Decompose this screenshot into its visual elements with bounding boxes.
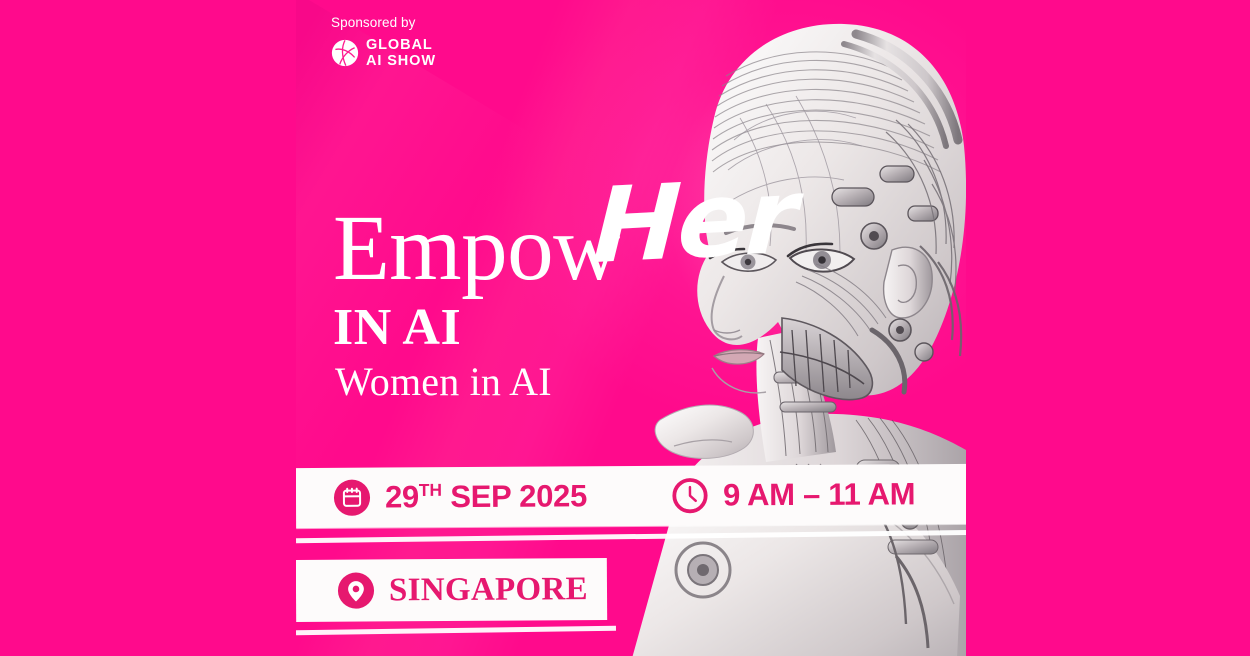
globe-icon bbox=[331, 39, 359, 67]
date-day: 29 bbox=[385, 479, 419, 514]
subtitle: Women in AI bbox=[335, 358, 552, 405]
left-margin bbox=[0, 0, 296, 656]
clock-icon bbox=[671, 477, 709, 515]
headline-word-her: Her bbox=[590, 155, 797, 287]
sponsor-brand-line-1: GLOBAL bbox=[366, 38, 436, 53]
sponsor-logo[interactable]: GLOBAL AI SHOW bbox=[331, 38, 436, 69]
headline-subline: IN AI bbox=[333, 298, 794, 357]
location-bar: SINGAPORE bbox=[296, 558, 607, 622]
calendar-icon bbox=[333, 479, 371, 517]
date-time-bar: 29TH SEP 2025 9 AM – 11 AM bbox=[296, 464, 972, 528]
sponsor-brand: GLOBAL AI SHOW bbox=[366, 38, 436, 69]
location-item: SINGAPORE bbox=[337, 570, 588, 610]
location-text: SINGAPORE bbox=[389, 571, 588, 609]
date-item: 29TH SEP 2025 bbox=[333, 477, 587, 517]
headline-main-line: EmpowHer bbox=[333, 182, 794, 304]
right-margin bbox=[966, 0, 1250, 656]
sponsor-brand-line-2: AI SHOW bbox=[366, 54, 436, 69]
date-month-year: SEP 2025 bbox=[450, 478, 587, 514]
time-item: 9 AM – 11 AM bbox=[671, 475, 915, 514]
headline-word-empow: Empow bbox=[333, 197, 620, 300]
location-pin-icon bbox=[337, 571, 375, 609]
date-ordinal: TH bbox=[419, 480, 442, 500]
event-poster: Sponsored by GLOBAL AI SHOW EmpowHe bbox=[0, 0, 1250, 656]
date-text: 29TH SEP 2025 bbox=[385, 478, 587, 515]
sponsored-by-label: Sponsored by bbox=[331, 16, 436, 31]
headline: EmpowHer IN AI bbox=[333, 182, 794, 357]
time-text: 9 AM – 11 AM bbox=[723, 476, 915, 513]
sponsor-block: Sponsored by GLOBAL AI SHOW bbox=[331, 16, 436, 69]
